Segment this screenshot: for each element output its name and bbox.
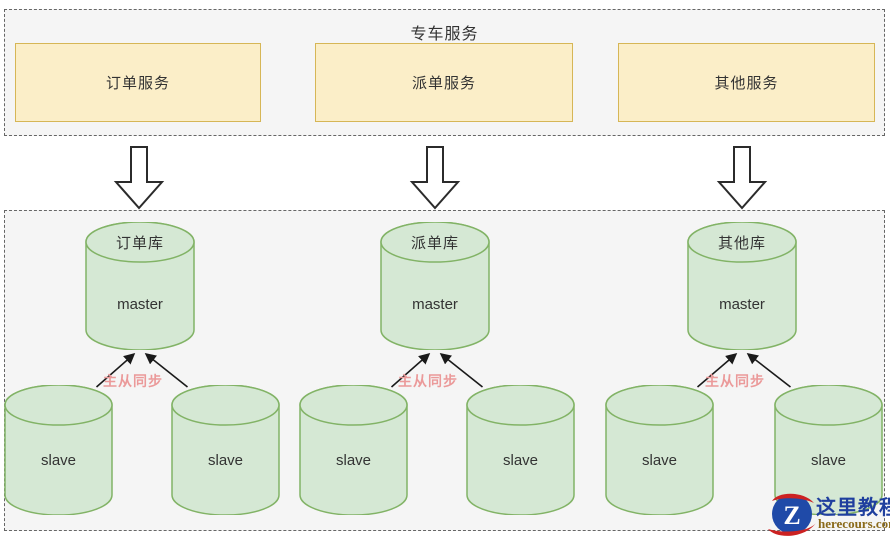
diagram-canvas: 专车服务 订单服务 派单服务 其他服务 订单库masterslavesla (0, 0, 890, 539)
other-db-group-slave-0[interactable]: slave (605, 385, 714, 515)
dispatch-db-group-slave-0[interactable]: slave (299, 385, 408, 515)
other-db-group-master[interactable]: 其他库master (687, 222, 797, 350)
service-box-dispatch-label: 派单服务 (412, 72, 476, 93)
replication-label-order: 主从同步 (103, 371, 163, 391)
order-service-to-order-db-arrow (109, 146, 169, 210)
service-layer-title: 专车服务 (5, 20, 884, 44)
order-db-group-master[interactable]: 订单库master (85, 222, 195, 350)
dispatch-service-to-dispatch-db-arrow (405, 146, 465, 210)
watermark: Z 这里教程网 herecours.com (764, 489, 890, 539)
order-db-group-slave-0[interactable]: slave (4, 385, 113, 515)
order-db-group-slave-1[interactable]: slave (171, 385, 280, 515)
dispatch-db-group-master[interactable]: 派单库master (380, 222, 490, 350)
replication-label-other: 主从同步 (705, 371, 765, 391)
service-box-other[interactable]: 其他服务 (618, 43, 875, 122)
svg-text:Z: Z (783, 501, 800, 530)
service-box-order[interactable]: 订单服务 (15, 43, 261, 122)
other-service-to-other-db-arrow (712, 146, 772, 210)
watermark-logo-icon: Z (764, 489, 820, 539)
watermark-site-url: herecours.com (818, 516, 890, 532)
dispatch-db-group-slave-1[interactable]: slave (466, 385, 575, 515)
service-box-other-label: 其他服务 (714, 72, 778, 93)
replication-label-dispatch: 主从同步 (398, 371, 458, 391)
service-box-order-label: 订单服务 (106, 72, 170, 93)
service-box-dispatch[interactable]: 派单服务 (315, 43, 573, 122)
